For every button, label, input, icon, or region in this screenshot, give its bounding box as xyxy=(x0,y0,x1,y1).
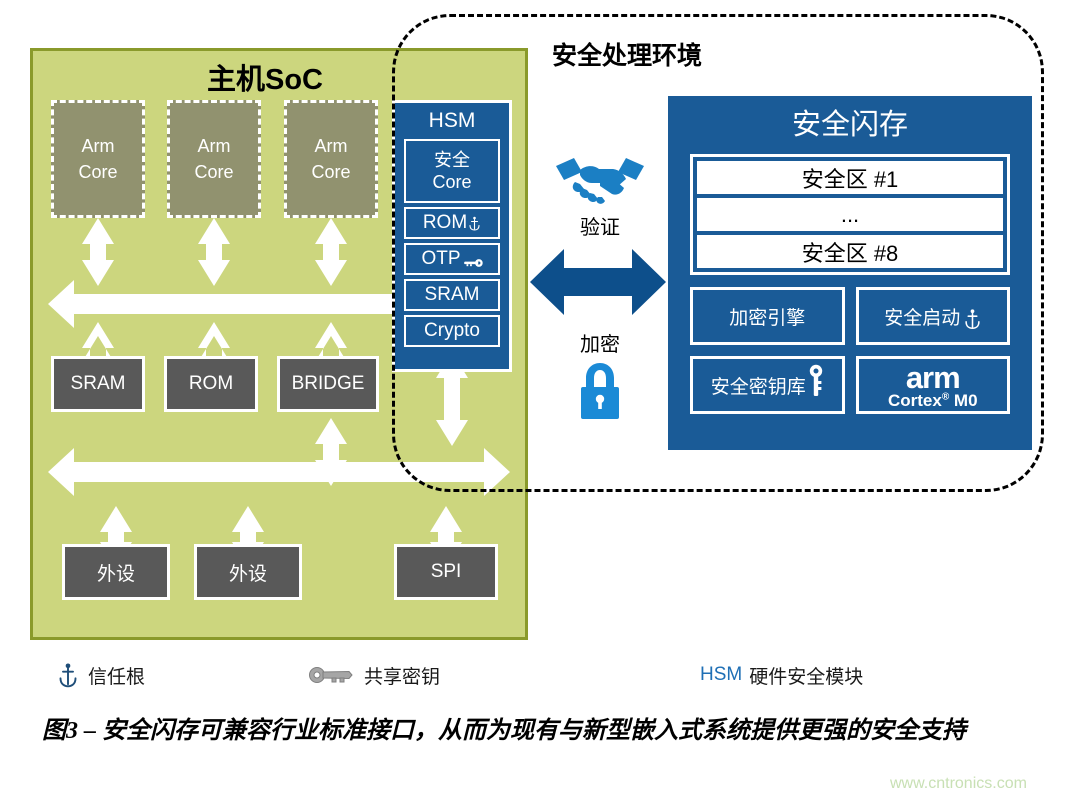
legend-item-root-of-trust: 信任根 xyxy=(58,655,145,695)
crypto-engine-cell: 加密引擎 xyxy=(690,287,845,345)
secure-key-store-cell: 安全密钥库 xyxy=(690,356,845,414)
arm-core-box: Arm Core xyxy=(51,100,145,218)
secure-zone-row: 安全区 #1 xyxy=(697,161,1003,194)
site-watermark: www.cntronics.com xyxy=(890,775,1027,793)
arm-core-box: Arm Core xyxy=(284,100,378,218)
lock-icon xyxy=(572,360,628,422)
arm-logo: arm Cortex® M0 xyxy=(888,362,978,409)
legend-hsm-label: 硬件安全模块 xyxy=(749,662,863,689)
secure-zone-row: 安全区 #8 xyxy=(697,235,1003,268)
secure-zones-group: 安全区 #1 ... 安全区 #8 xyxy=(690,154,1010,275)
soc-peripheral-box: 外设 xyxy=(62,544,170,600)
cortex-model-label: Cortex® M0 xyxy=(888,392,978,409)
legend-item-hsm: HSM 硬件安全模块 xyxy=(700,655,863,695)
secure-zone-row: ... xyxy=(697,198,1003,231)
soc-sram-box: SRAM xyxy=(51,356,145,412)
arm-core-label-line1: Arm xyxy=(315,133,348,159)
diagram-canvas: 主机SoC Arm Core Arm Core Arm Core SRAM RO… xyxy=(0,0,1074,800)
model-text: M0 xyxy=(954,391,978,410)
arm-core-label-line2: Core xyxy=(78,159,117,185)
key-icon xyxy=(808,364,824,398)
arm-cortex-m0-cell: arm Cortex® M0 xyxy=(856,356,1011,414)
secure-flash-title: 安全闪存 xyxy=(668,96,1032,148)
legend-label-root-of-trust: 信任根 xyxy=(88,662,145,689)
legend: 信任根 共享密钥 HSM 硬件安全模块 xyxy=(0,655,1074,699)
secure-boot-cell: 安全启动 xyxy=(856,287,1011,345)
arm-core-label-line2: Core xyxy=(311,159,350,185)
key-icon xyxy=(308,665,354,685)
arm-core-label-line2: Core xyxy=(194,159,233,185)
authentication-label: 验证 xyxy=(560,211,640,240)
secure-processing-environment-title: 安全处理环境 xyxy=(552,36,702,72)
registered-mark: ® xyxy=(942,391,949,402)
anchor-icon xyxy=(58,662,78,688)
soc-bridge-box: BRIDGE xyxy=(277,356,379,412)
soc-peripheral-box: 外设 xyxy=(194,544,302,600)
soc-spi-box: SPI xyxy=(394,544,498,600)
crypto-engine-label: 加密引擎 xyxy=(729,303,805,330)
arm-core-label-line1: Arm xyxy=(198,133,231,159)
legend-label-shared-key: 共享密钥 xyxy=(364,662,440,689)
arm-core-label-line1: Arm xyxy=(82,133,115,159)
secure-boot-label: 安全启动 xyxy=(884,303,960,330)
anchor-icon xyxy=(964,308,981,330)
encryption-label: 加密 xyxy=(560,328,640,357)
arm-core-box: Arm Core xyxy=(167,100,261,218)
legend-item-shared-key: 共享密钥 xyxy=(308,655,440,695)
handshake-icon xyxy=(552,152,648,208)
soc-rom-box: ROM xyxy=(164,356,258,412)
arm-wordmark: arm xyxy=(888,362,978,393)
secure-flash-block: 安全闪存 安全区 #1 ... 安全区 #8 加密引擎 安全启动 xyxy=(668,96,1032,450)
secure-flash-feature-grid: 加密引擎 安全启动 安全密钥库 xyxy=(690,287,1010,414)
secure-key-store-label: 安全密钥库 xyxy=(711,372,806,399)
bidirectional-arrow-icon xyxy=(528,243,668,321)
legend-hsm-abbreviation: HSM xyxy=(700,664,742,686)
cortex-text: Cortex xyxy=(888,391,942,410)
figure-caption: 图3 – 安全闪存可兼容行业标准接口，从而为现有与新型嵌入式系统提供更强的安全支… xyxy=(42,716,1032,748)
